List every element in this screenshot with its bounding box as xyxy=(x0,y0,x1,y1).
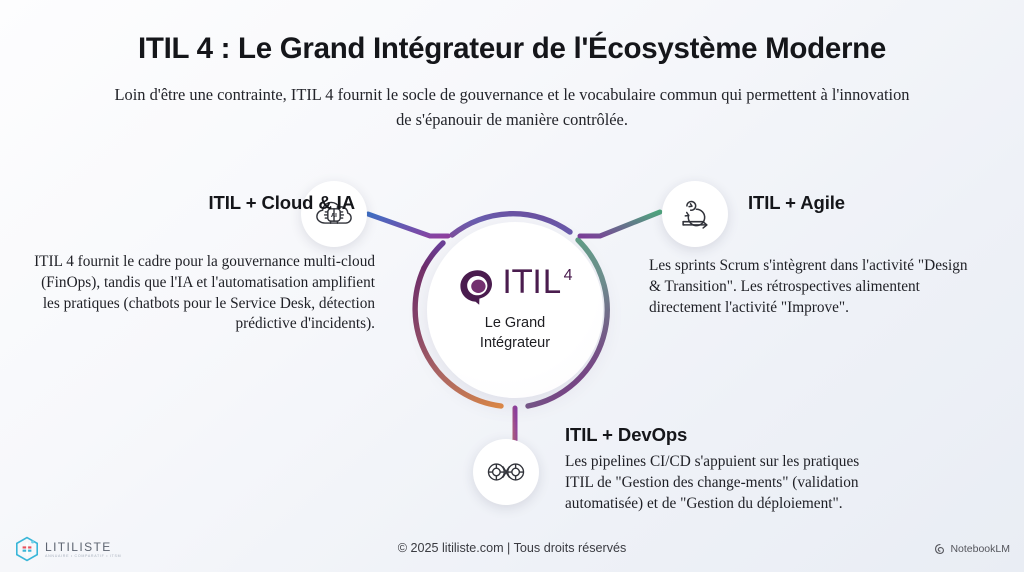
infographic-canvas: ITIL 4 : Le Grand Intégrateur de l'Écosy… xyxy=(0,0,1024,572)
page-title: ITIL 4 : Le Grand Intégrateur de l'Écosy… xyxy=(0,32,1024,66)
itil-logo: ITIL 4 xyxy=(457,267,572,305)
devops-infinity-icon xyxy=(484,455,528,489)
notebooklm-spiral-icon xyxy=(934,543,946,555)
itil-version-superscript: 4 xyxy=(564,268,573,284)
branch-devops-body: Les pipelines CI/CD s'appuient sur les p… xyxy=(565,452,885,514)
footer-copyright: © 2025 litiliste.com | Tous droits réser… xyxy=(0,541,1024,555)
branch-agile-body: Les sprints Scrum s'intègrent dans l'act… xyxy=(649,256,979,318)
center-hub: ITIL 4 Le Grand Intégrateur xyxy=(427,222,603,398)
branch-devops: ITIL + DevOps Les pipelines CI/CD s'appu… xyxy=(565,424,885,514)
itil-wordmark: ITIL xyxy=(502,267,560,297)
footer: LITILISTE ANNUAIRE • COMPARATIF • ITSM ©… xyxy=(0,530,1024,572)
devops-infinity-icon-bubble xyxy=(473,439,539,505)
page-subtitle: Loin d'être une contrainte, ITIL 4 fourn… xyxy=(112,83,912,132)
itil-swirl-icon xyxy=(457,267,499,305)
connector-cloud xyxy=(368,214,448,236)
hub-caption: Le Grand Intégrateur xyxy=(480,314,550,352)
brand-tagline: ANNUAIRE • COMPARATIF • ITSM xyxy=(45,555,121,559)
branch-devops-heading: ITIL + DevOps xyxy=(565,424,885,446)
header: ITIL 4 : Le Grand Intégrateur de l'Écosy… xyxy=(0,32,1024,132)
hub-caption-line2: Intégrateur xyxy=(480,334,550,353)
branch-cloud-body: ITIL 4 fournit le cadre pour la gouverna… xyxy=(30,252,375,335)
branch-cloud: ITIL + Cloud & IA ITIL 4 fournit le cadr… xyxy=(30,192,375,335)
notebooklm-credit: NotebookLM xyxy=(934,543,1010,555)
notebooklm-label: NotebookLM xyxy=(950,543,1010,555)
connector-agile xyxy=(580,212,660,236)
hub-caption-line1: Le Grand xyxy=(480,314,550,333)
branch-agile-heading: ITIL + Agile xyxy=(748,192,979,214)
branch-cloud-heading: ITIL + Cloud & IA xyxy=(30,192,355,214)
branch-agile: ITIL + Agile Les sprints Scrum s'intègre… xyxy=(649,192,979,318)
